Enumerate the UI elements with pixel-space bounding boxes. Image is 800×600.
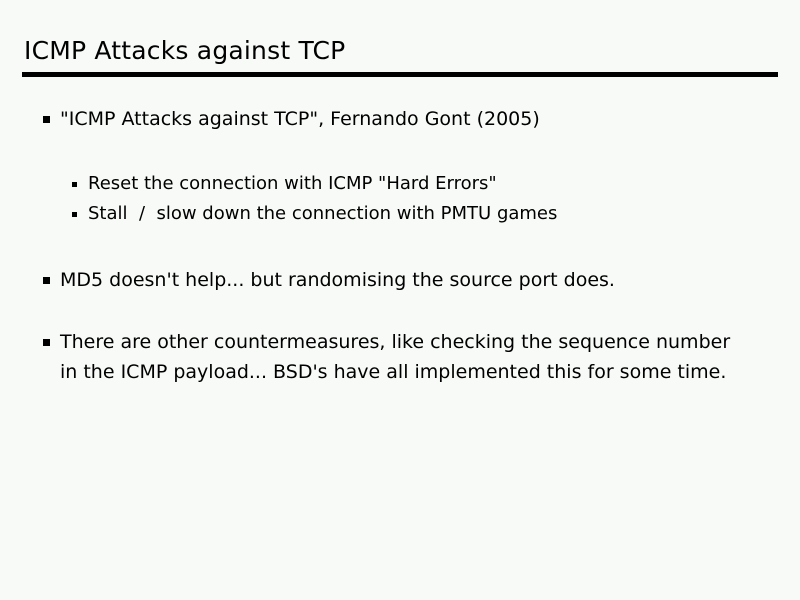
square-bullet-icon	[43, 116, 50, 123]
list-item-text: There are other countermeasures, like ch…	[60, 327, 740, 387]
spacer	[0, 134, 800, 169]
sub-list-item: Reset the connection with ICMP "Hard Err…	[0, 169, 800, 199]
page-title: ICMP Attacks against TCP	[24, 36, 345, 66]
slide: ICMP Attacks against TCP "ICMP Attacks a…	[0, 0, 800, 600]
slide-body: "ICMP Attacks against TCP", Fernando Gon…	[0, 104, 800, 387]
list-item-text: "ICMP Attacks against TCP", Fernando Gon…	[60, 104, 740, 134]
square-bullet-icon	[43, 277, 50, 284]
spacer	[0, 295, 800, 327]
sub-list-item-text: Stall / slow down the connection with PM…	[88, 199, 740, 229]
list-item-text: MD5 doesn't help... but randomising the …	[60, 265, 740, 295]
title-underline-rule	[22, 72, 778, 77]
list-item: There are other countermeasures, like ch…	[0, 327, 800, 387]
square-bullet-icon	[43, 339, 50, 346]
sub-list-item: Stall / slow down the connection with PM…	[0, 199, 800, 229]
list-item: MD5 doesn't help... but randomising the …	[0, 265, 800, 295]
sub-list-item-text: Reset the connection with ICMP "Hard Err…	[88, 169, 740, 199]
square-bullet-icon	[72, 182, 77, 187]
spacer	[0, 229, 800, 265]
square-bullet-icon	[72, 212, 77, 217]
list-item: "ICMP Attacks against TCP", Fernando Gon…	[0, 104, 800, 134]
